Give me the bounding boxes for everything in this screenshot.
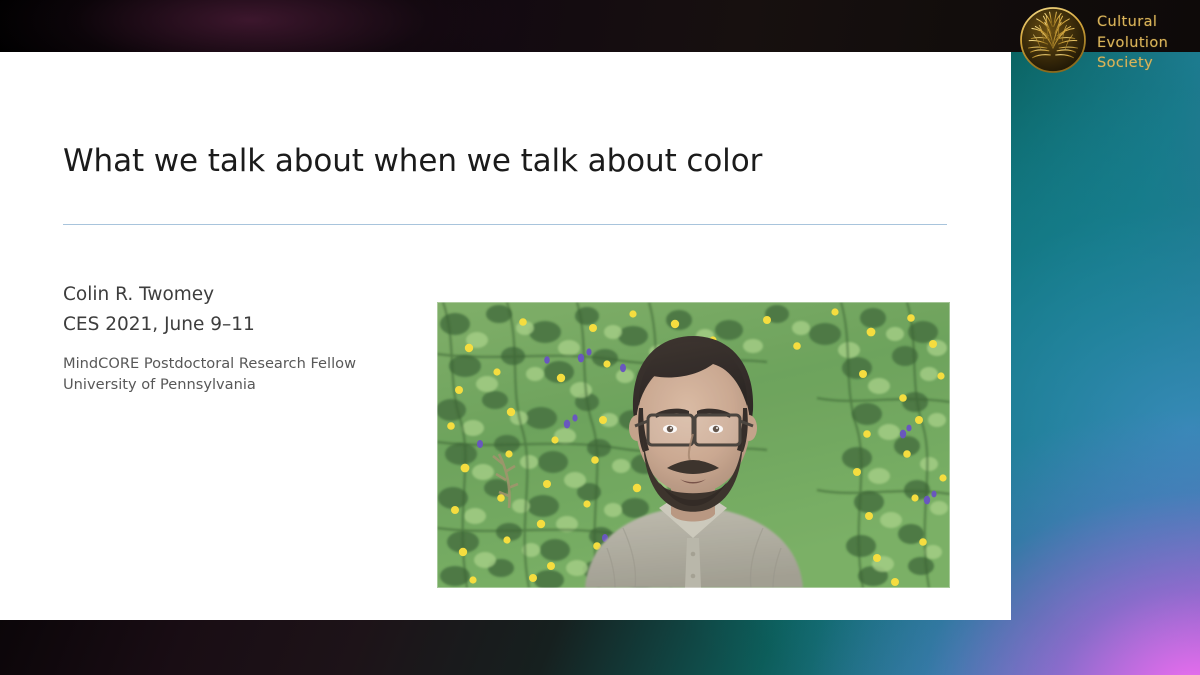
presentation-slide-background: Cultural Evolution Society What we talk …	[0, 0, 1200, 675]
slide-content-panel: What we talk about when we talk about co…	[0, 52, 1011, 620]
logo-line-2: Evolution	[1097, 33, 1168, 54]
webcam-image	[437, 302, 950, 588]
presenter-webcam-photo	[437, 302, 950, 588]
event-date: CES 2021, June 9–11	[63, 310, 423, 340]
logo-line-3: Society	[1097, 53, 1168, 74]
tree-emblem-icon	[1019, 6, 1087, 74]
logo-wordmark: Cultural Evolution Society	[1097, 6, 1168, 74]
affiliation-block: MindCORE Postdoctoral Research Fellow Un…	[63, 354, 423, 395]
cultural-evolution-society-logo: Cultural Evolution Society	[1019, 6, 1191, 82]
affiliation-org: University of Pennsylvania	[63, 375, 423, 396]
byline-block: Colin R. Twomey CES 2021, June 9–11 Mind…	[63, 280, 423, 395]
slide-title: What we talk about when we talk about co…	[63, 143, 943, 179]
presenter-name: Colin R. Twomey	[63, 280, 423, 310]
title-divider-rule	[63, 224, 947, 226]
affiliation-role: MindCORE Postdoctoral Research Fellow	[63, 354, 423, 375]
logo-line-1: Cultural	[1097, 12, 1168, 33]
